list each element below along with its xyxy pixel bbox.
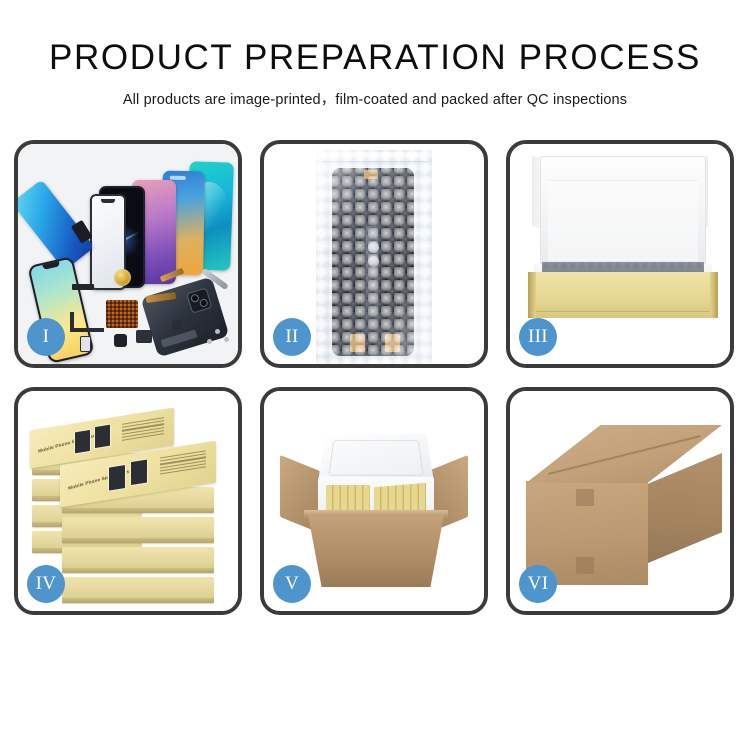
small-camera-part-icon [114,334,127,347]
box-screen-thumb-icon [94,424,111,450]
process-step-panel-2[interactable]: II [260,140,488,368]
process-step-panel-3[interactable]: III [506,140,734,368]
sim-tray-part-icon [80,336,91,352]
button-part-icon [172,320,182,330]
step-badge-6: VI [519,565,557,603]
box-screen-thumb-icon [108,464,126,492]
step-badge-4: IV [27,565,65,603]
box-screen-thumb-icon [74,429,91,455]
carton-tape-patch-icon [576,489,594,506]
step-badge-1: I [27,318,65,356]
screw-part-icon [207,339,212,344]
carton-body-icon [308,515,444,587]
step-badge-3: III [519,318,557,356]
foam-liner-icon [548,180,698,261]
page-title: PRODUCT PREPARATION PROCESS [0,40,750,77]
process-step-grid: I II [14,140,736,615]
process-step-panel-4[interactable]: Mobile Phone Spare Parts Mobile Phone Sp… [14,387,242,615]
stacked-box [62,517,214,543]
process-step-panel-5[interactable]: V [260,387,488,615]
box-edge-right [710,272,718,318]
carton-top-seam [548,435,701,475]
clear-poly-bag-icon [316,150,432,364]
bag-gloss-highlight [316,150,432,364]
carton-tape-patch-icon [576,557,594,574]
flex-cable-part-icon [70,312,104,332]
chip-grid-part-icon [106,300,138,328]
stacked-box [62,577,214,603]
yellow-mailer-box-base-icon [528,272,718,318]
camera-module-icon [186,287,212,313]
box-spec-lines [160,450,206,474]
screw-part-icon [224,337,229,342]
step-badge-2: II [273,318,311,356]
vibrator-part-icon [136,330,152,343]
front-notch-icon [42,261,60,270]
process-step-panel-6[interactable]: VI [506,387,734,615]
box-spec-lines [122,417,164,441]
earpiece-part-icon [72,284,94,290]
glass-notch-icon [101,199,115,203]
page-header: PRODUCT PREPARATION PROCESS All products… [0,0,750,109]
process-step-panel-1[interactable]: I [14,140,242,368]
box-edge-left [528,272,536,318]
page-subtitle: All products are image-printed，film-coat… [0,88,750,109]
box-screen-thumb-icon [130,458,148,486]
step-badge-5: V [273,565,311,603]
chassis-label-strip [161,330,198,348]
stacked-box [62,547,214,573]
box-fold-line [536,311,710,312]
screw-part-icon [215,329,220,334]
speaker-part-icon [114,269,131,286]
phone-notch-icon [170,176,186,180]
